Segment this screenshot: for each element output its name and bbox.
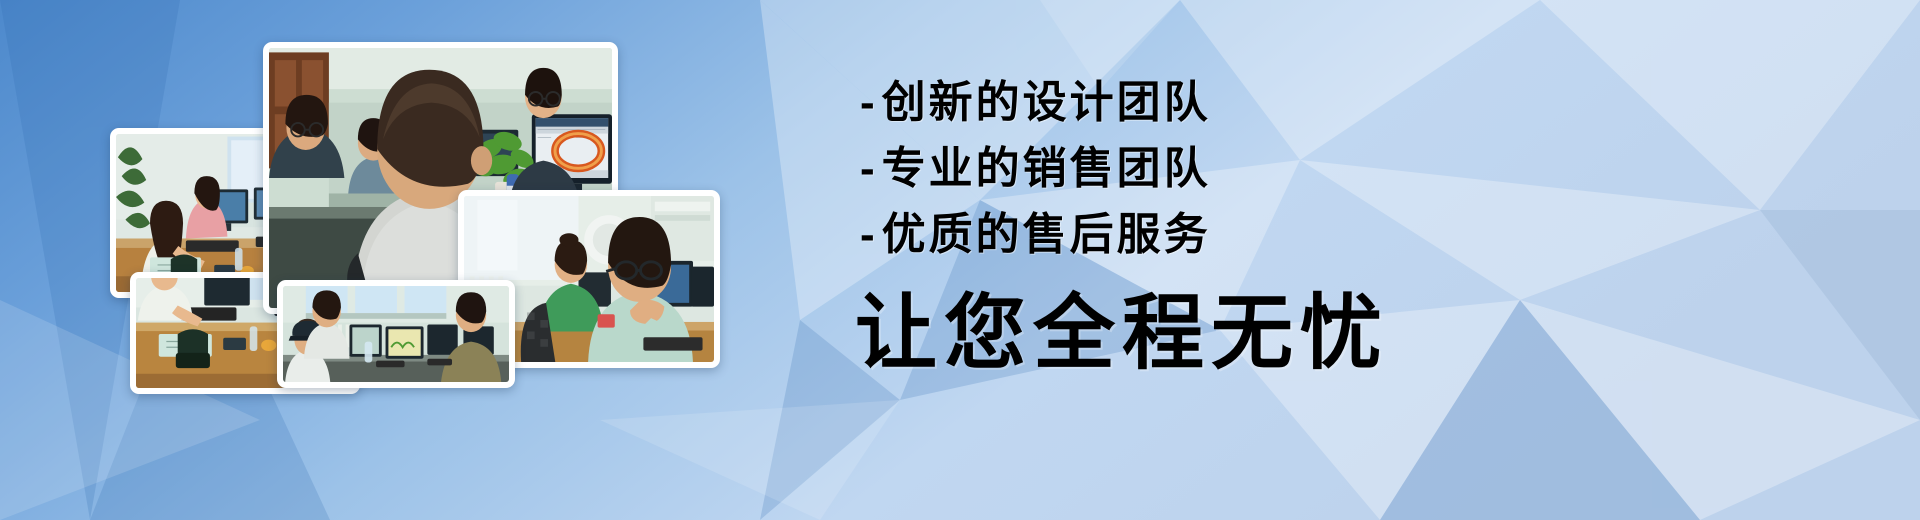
photo-collage <box>0 0 760 520</box>
bullet-item-2: -专业的销售团队 <box>860 136 1920 202</box>
marketing-copy: -创新的设计团队 -专业的销售团队 -优质的售后服务 让您全程无忧 <box>860 0 1920 520</box>
bullet-item-3: -优质的售后服务 <box>860 202 1920 268</box>
bullet-item-1: -创新的设计团队 <box>860 70 1920 136</box>
bullet-text-2: 专业的销售团队 <box>882 144 1211 193</box>
bullet-dash-1: - <box>860 78 878 127</box>
feature-bullet-list: -创新的设计团队 -专业的销售团队 -优质的售后服务 <box>860 70 1920 268</box>
bullet-text-1: 创新的设计团队 <box>882 78 1211 127</box>
promo-banner: -创新的设计团队 -专业的销售团队 -优质的售后服务 让您全程无忧 <box>0 0 1920 520</box>
collage-photo-bottom-center <box>277 280 515 388</box>
bullet-dash-3: - <box>860 210 878 259</box>
bullet-text-3: 优质的售后服务 <box>882 210 1211 259</box>
banner-headline: 让您全程无忧 <box>855 286 1389 382</box>
window-side-workstations-image <box>283 286 509 382</box>
bullet-dash-2: - <box>860 144 878 193</box>
